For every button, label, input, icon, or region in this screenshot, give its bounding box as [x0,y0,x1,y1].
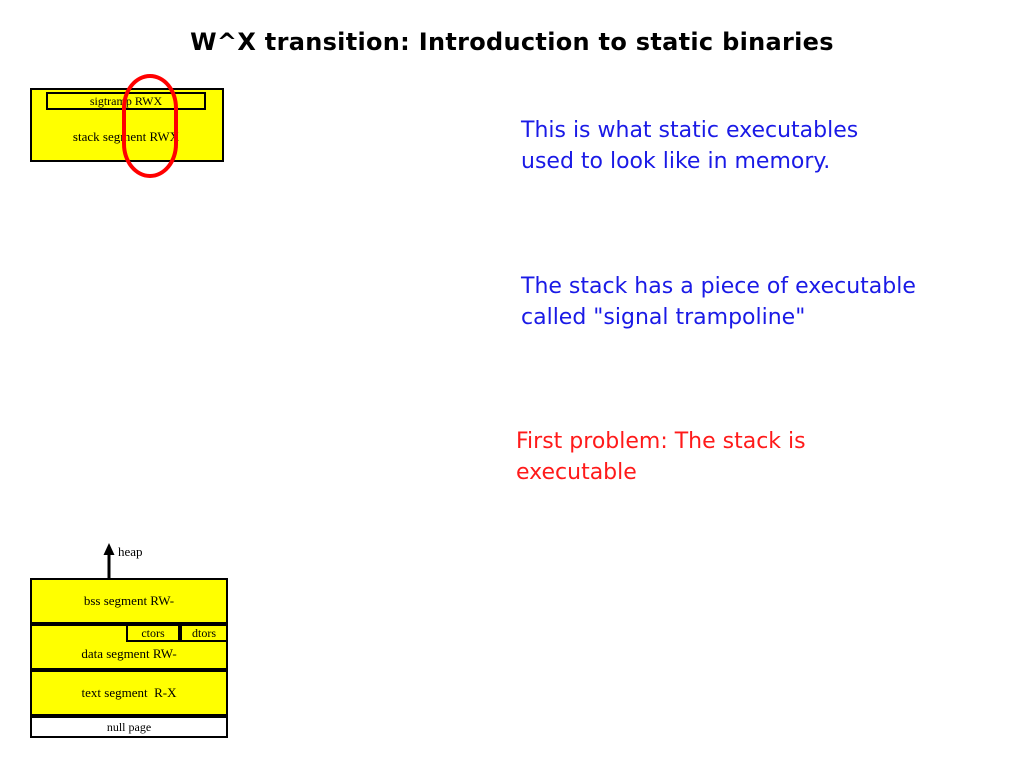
note-first-problem: First problem: The stack is executable [516,426,986,488]
heap-arrow-icon [102,543,116,579]
null-page-box: null page [30,716,228,738]
text-segment-box: text segment R-X [30,670,228,716]
static-binary-memory-layout-diagram: heap bss segment RW- data segment RW- ct… [30,578,228,740]
note-signal-trampoline: The stack has a piece of executable call… [521,271,1021,333]
sigtramp-label: sigtramp RWX [46,93,206,109]
heap-label: heap [118,544,143,560]
stack-segment-label: stack segment RWX [32,128,220,146]
bss-segment-box: bss segment RW- [30,578,228,624]
stack-memory-layout-diagram: sigtramp RWX stack segment RWX [30,88,224,162]
note-static-executables: This is what static executables used to … [521,115,1021,177]
dtors-section-box: dtors [180,624,228,642]
page-title: W^X transition: Introduction to static b… [0,28,1024,56]
ctors-section-box: ctors [126,624,180,642]
